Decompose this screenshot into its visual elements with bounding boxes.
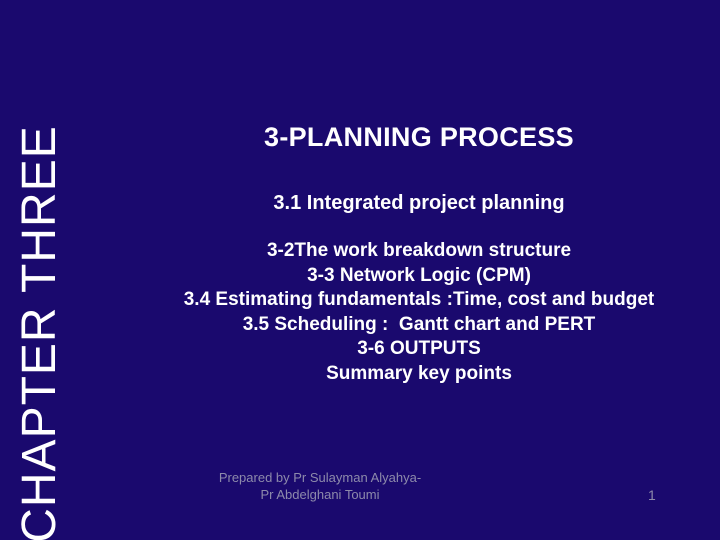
outline-item: Summary key points bbox=[118, 362, 720, 387]
outline-list: 3-2The work breakdown structure 3-3 Netw… bbox=[118, 239, 720, 386]
slide-content: 3-PLANNING PROCESS 3.1 Integrated projec… bbox=[118, 0, 720, 540]
chapter-rail: CHAPTER THREE bbox=[0, 0, 120, 540]
outline-item: 3-6 OUTPUTS bbox=[118, 337, 720, 362]
footer-credit: Prepared by Pr Sulayman Alyahya- Pr Abde… bbox=[118, 469, 522, 503]
outline-item: 3-2The work breakdown structure bbox=[118, 239, 720, 264]
slide-canvas: CHAPTER THREE 3-PLANNING PROCESS 3.1 Int… bbox=[0, 0, 720, 540]
outline-item: 3.4 Estimating fundamentals :Time, cost … bbox=[118, 288, 720, 313]
outline-item: 3-3 Network Logic (CPM) bbox=[118, 264, 720, 289]
page-title: 3-PLANNING PROCESS bbox=[118, 122, 720, 153]
outline-item: 3.5 Scheduling : Gantt chart and PERT bbox=[118, 313, 720, 338]
footer-credit-line-1: Prepared by Pr Sulayman Alyahya- bbox=[118, 469, 522, 486]
chapter-label: CHAPTER THREE bbox=[16, 124, 64, 540]
footer-credit-line-2: Pr Abdelghani Toumi bbox=[118, 486, 522, 503]
page-number: 1 bbox=[648, 487, 678, 504]
slide-subtitle: 3.1 Integrated project planning bbox=[118, 191, 720, 215]
